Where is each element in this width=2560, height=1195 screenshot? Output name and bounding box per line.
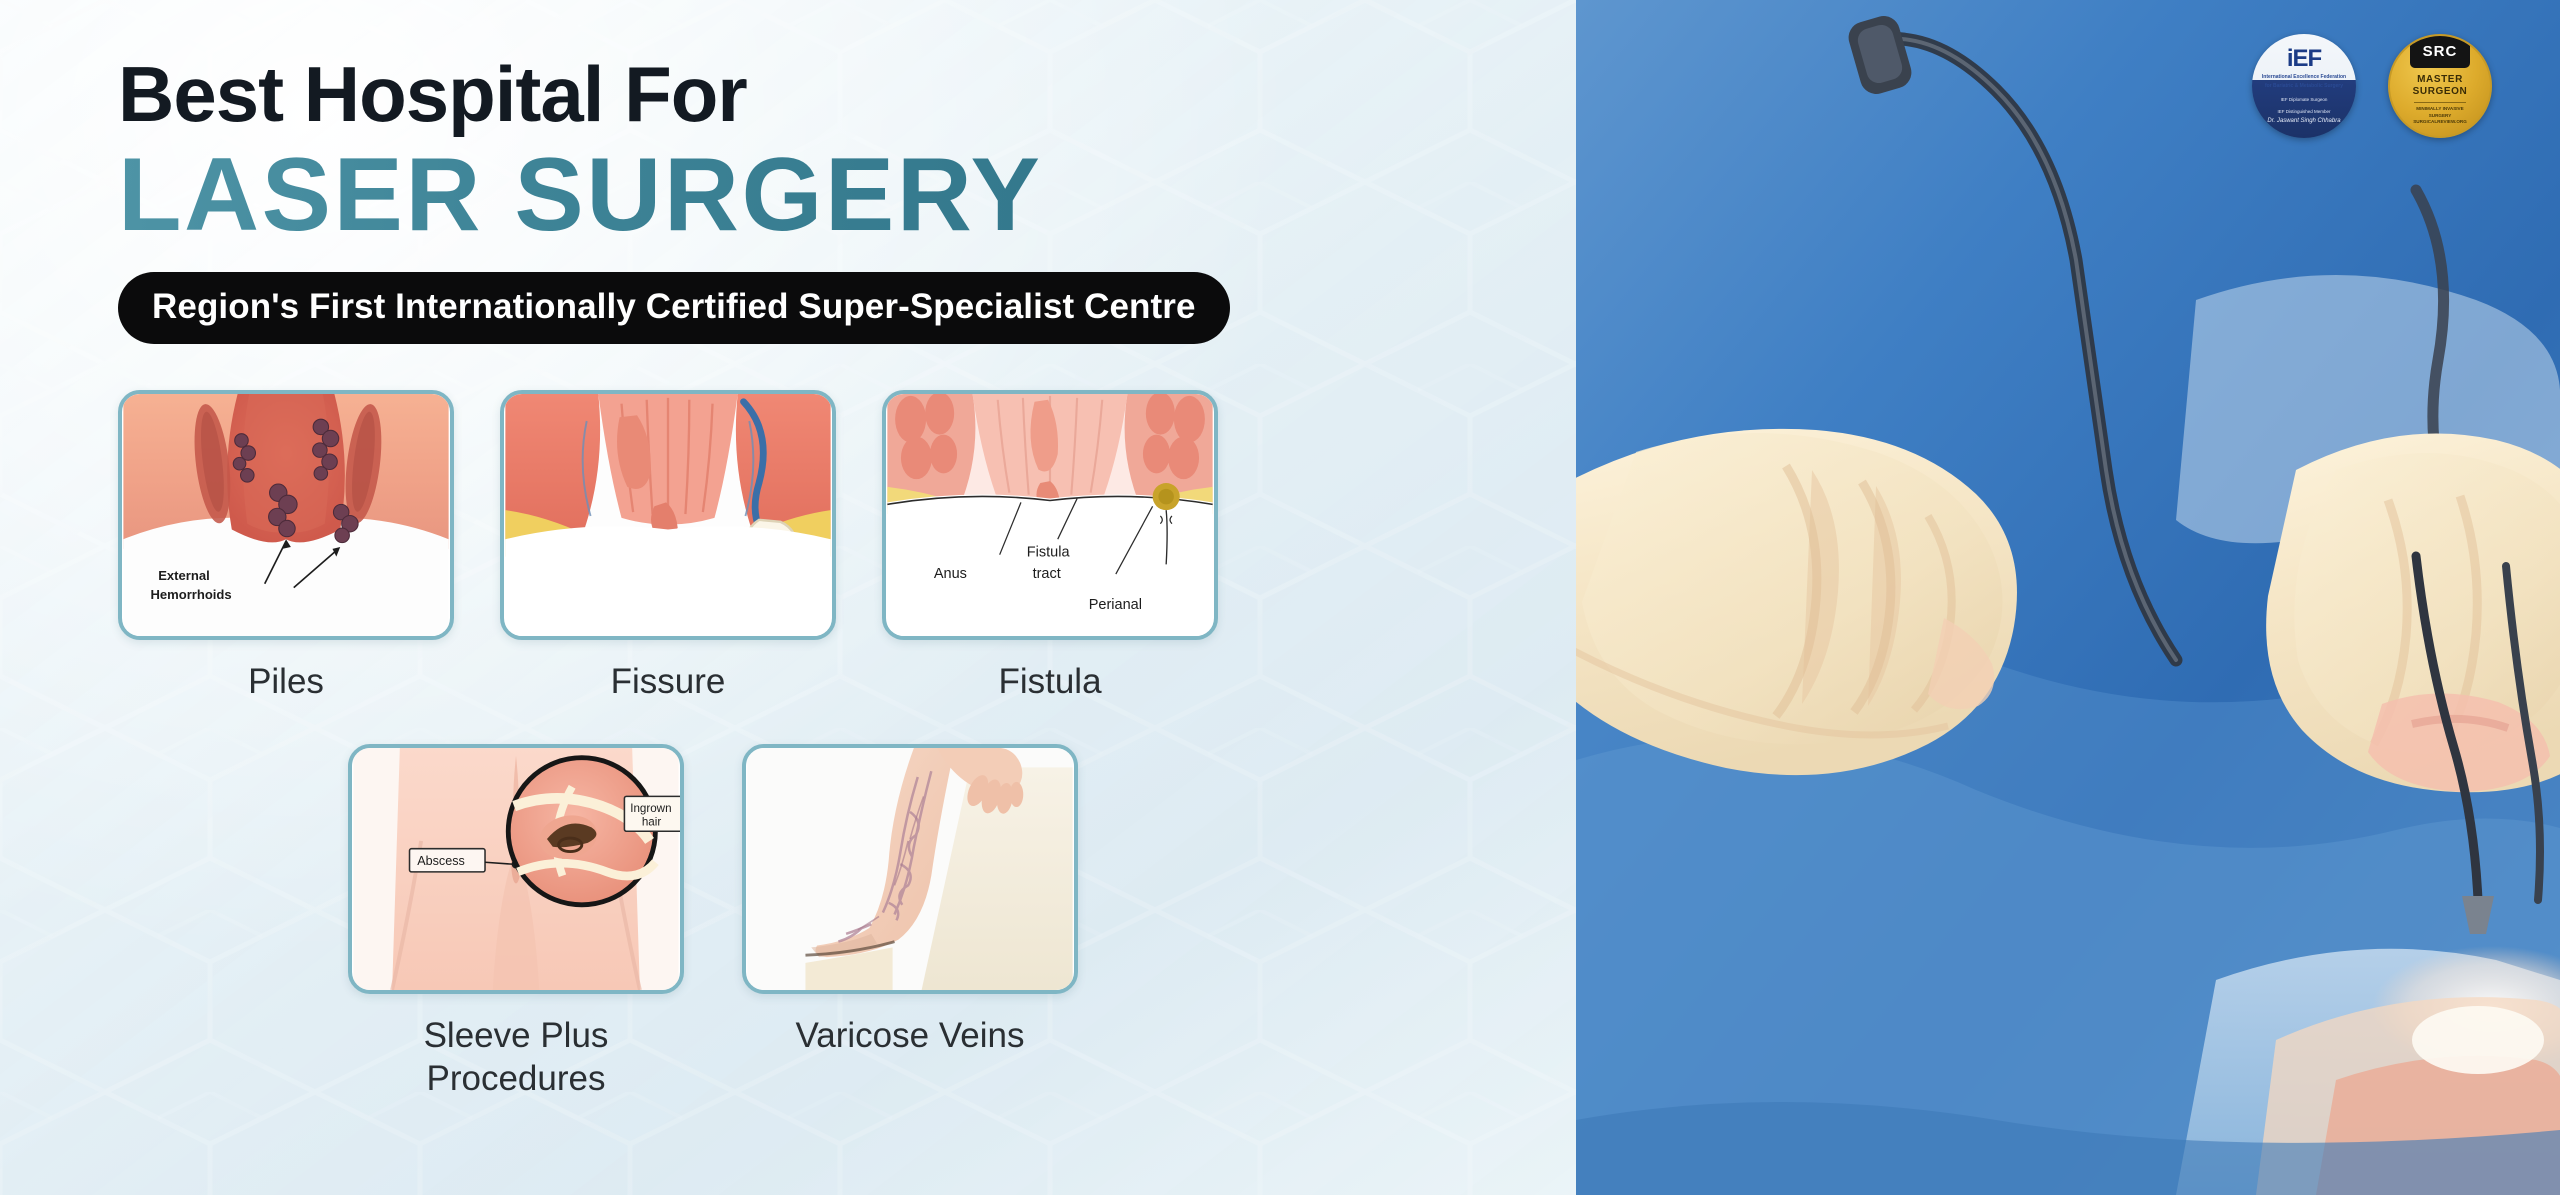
ief-logo-mark: iEF — [2287, 47, 2321, 71]
sleeve-plus-illustration-card: Abscess Ingrown hair — [348, 744, 684, 994]
src-divider — [2414, 102, 2466, 103]
src-master-surgeon-badge: SRC MASTER SURGEON MINIMALLY INVASIVE SU… — [2388, 34, 2492, 138]
label-hair: hair — [642, 815, 661, 828]
ief-surgeon-name: Dr. Jaswant Singh Chhabra — [2267, 118, 2340, 124]
treatment-cards-row-2: Abscess Ingrown hair — [118, 744, 1576, 1101]
laser-surgery-promo-banner: Best Hospital For LASER SURGERY Region's… — [0, 0, 2560, 1195]
card-caption-piles: Piles — [118, 660, 454, 703]
label-hemorrhoids: Hemorrhoids — [150, 588, 231, 603]
card-caption-fistula: Fistula — [882, 660, 1218, 703]
card-caption-sleeve-plus: Sleeve Plus Procedures — [348, 1014, 684, 1101]
label-tract: tract — [1033, 566, 1061, 582]
treatment-card-fissure[interactable]: Fissure — [500, 390, 836, 703]
varicose-veins-illustration-card — [742, 744, 1078, 994]
fistula-illustration-card: Anus Fistula tract Perianal — [882, 390, 1218, 640]
left-content-panel: Best Hospital For LASER SURGERY Region's… — [0, 0, 1576, 1195]
treatment-card-fistula[interactable]: Anus Fistula tract Perianal Fistula — [882, 390, 1218, 703]
label-abscess: Abscess — [417, 854, 465, 868]
pilonidal-sinus-icon: Abscess Ingrown hair — [352, 748, 680, 990]
card-caption-fissure: Fissure — [500, 660, 836, 703]
ief-line-4: IEF Distinguished Member — [2258, 109, 2350, 115]
src-title-surgeon: SURGEON — [2413, 86, 2468, 98]
src-logo-mark: SRC — [2410, 36, 2471, 68]
label-anus: Anus — [934, 566, 967, 582]
label-perianal: Perianal — [1089, 597, 1142, 613]
label-ingrown: Ingrown — [630, 802, 671, 815]
ief-line-3: IEF Diplomate Surgeon — [2258, 97, 2350, 103]
ief-subtitle-line-1: International Excellence Federation — [2257, 74, 2351, 80]
ief-subtitle-line-2: for Bariatric & Metabolic Surgery — [2257, 83, 2351, 89]
treatment-card-piles[interactable]: External Hemorrhoids Piles — [118, 390, 454, 703]
ief-badge: iEF International Excellence Federation … — [2252, 34, 2356, 138]
operating-room-image — [1576, 0, 2560, 1195]
treatment-card-varicose-veins[interactable]: Varicose Veins — [742, 744, 1078, 1101]
accreditation-badges: iEF International Excellence Federation … — [2252, 34, 2492, 138]
anal-fistula-icon: Anus Fistula tract Perianal — [886, 394, 1214, 636]
headline-line-2: LASER SURGERY — [118, 140, 1576, 250]
label-external: External — [158, 568, 210, 583]
treatment-cards-row-1: External Hemorrhoids Piles — [118, 390, 1576, 703]
src-sub-line-3: SURGICALREVIEW.ORG — [2397, 119, 2483, 125]
src-title-master: MASTER — [2417, 74, 2463, 86]
piles-illustration-card: External Hemorrhoids — [118, 390, 454, 640]
card-caption-varicose-veins: Varicose Veins — [742, 1014, 1078, 1057]
caption-line-2: Procedures — [348, 1057, 684, 1100]
anal-fissure-icon — [504, 394, 832, 636]
external-hemorrhoids-icon: External Hemorrhoids — [122, 394, 450, 636]
fissure-illustration-card — [500, 390, 836, 640]
surgery-photo: iEF International Excellence Federation … — [1576, 0, 2560, 1195]
label-fistula: Fistula — [1027, 545, 1071, 561]
varicose-veins-leg-icon — [746, 748, 1074, 990]
caption-line-1: Sleeve Plus — [348, 1014, 684, 1057]
certification-pill: Region's First Internationally Certified… — [118, 272, 1230, 344]
treatment-card-sleeve-plus[interactable]: Abscess Ingrown hair — [348, 744, 684, 1101]
headline-line-1: Best Hospital For — [118, 52, 1576, 136]
